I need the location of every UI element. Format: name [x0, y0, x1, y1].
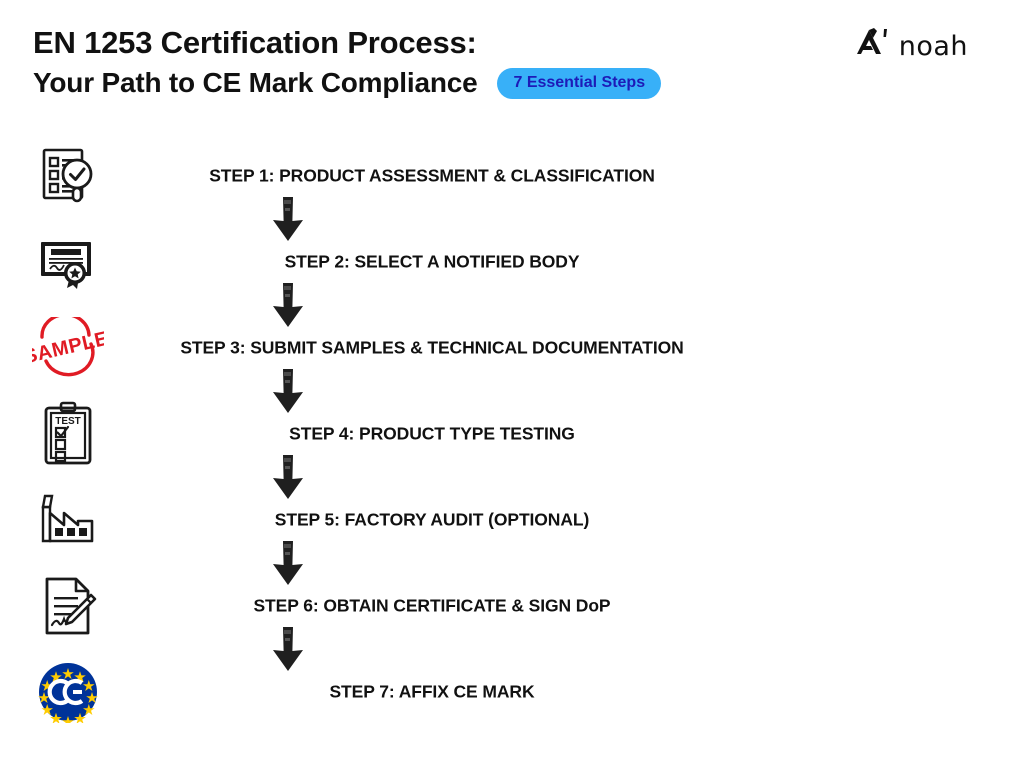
- flow-step-label-wrap: STEP 1: PRODUCT ASSESSMENT & CLASSIFICAT…: [0, 166, 1024, 187]
- brand-name: noah: [899, 33, 968, 60]
- flow-step-label-wrap: STEP 4: PRODUCT TYPE TESTING: [0, 424, 1024, 445]
- noah-logo-mark-icon: [854, 27, 894, 66]
- flow-step-label: STEP 3: SUBMIT SAMPLES & TECHNICAL DOCUM…: [180, 338, 683, 359]
- flow-step-label: STEP 2: SELECT A NOTIFIED BODY: [285, 252, 580, 273]
- flow-connector: [0, 384, 1024, 398]
- page-title: EN 1253 Certification Process:: [33, 26, 733, 60]
- flow-step-label: STEP 4: PRODUCT TYPE TESTING: [289, 424, 575, 445]
- flow-step: STEP 5: FACTORY AUDIT (OPTIONAL): [0, 484, 1024, 556]
- brand-logo: noah: [854, 27, 968, 66]
- flow-step: STEP 2: SELECT A NOTIFIED BODY: [0, 226, 1024, 298]
- flow-step: SAMPLE STEP 3: SUBMIT SAMPLES & TECHNICA…: [0, 312, 1024, 384]
- flow-step-label-wrap: STEP 5: FACTORY AUDIT (OPTIONAL): [0, 510, 1024, 531]
- flow-step-label: STEP 7: AFFIX CE MARK: [329, 682, 534, 703]
- flow-step-label: STEP 6: OBTAIN CERTIFICATE & SIGN DoP: [253, 596, 610, 617]
- flow-connector: [0, 556, 1024, 570]
- flow-step-label: STEP 1: PRODUCT ASSESSMENT & CLASSIFICAT…: [209, 166, 655, 187]
- flow-step: STEP 7: AFFIX CE MARK: [0, 656, 1024, 728]
- flow-step-label-wrap: STEP 6: OBTAIN CERTIFICATE & SIGN DoP: [0, 596, 1024, 617]
- flow-connector: [0, 470, 1024, 484]
- subtitle-row: Your Path to CE Mark Compliance 7 Essent…: [33, 68, 733, 99]
- flow-step-label-wrap: STEP 3: SUBMIT SAMPLES & TECHNICAL DOCUM…: [0, 338, 1024, 359]
- certification-flow: STEP 1: PRODUCT ASSESSMENT & CLASSIFICAT…: [0, 140, 1024, 728]
- flow-step: TEST STEP 4: PRODUCT TYPE TESTING: [0, 398, 1024, 470]
- flow-connector: [0, 212, 1024, 226]
- steps-count-badge: 7 Essential Steps: [497, 68, 661, 99]
- page-header: EN 1253 Certification Process: Your Path…: [33, 26, 733, 99]
- flow-connector: [0, 298, 1024, 312]
- flow-step: STEP 6: OBTAIN CERTIFICATE & SIGN DoP: [0, 570, 1024, 642]
- flow-connector: [0, 642, 1024, 656]
- flow-step-label-wrap: STEP 2: SELECT A NOTIFIED BODY: [0, 252, 1024, 273]
- flow-step-label: STEP 5: FACTORY AUDIT (OPTIONAL): [275, 510, 589, 531]
- page-subtitle: Your Path to CE Mark Compliance: [33, 68, 477, 99]
- flow-step: STEP 1: PRODUCT ASSESSMENT & CLASSIFICAT…: [0, 140, 1024, 212]
- flow-step-label-wrap: STEP 7: AFFIX CE MARK: [0, 682, 1024, 703]
